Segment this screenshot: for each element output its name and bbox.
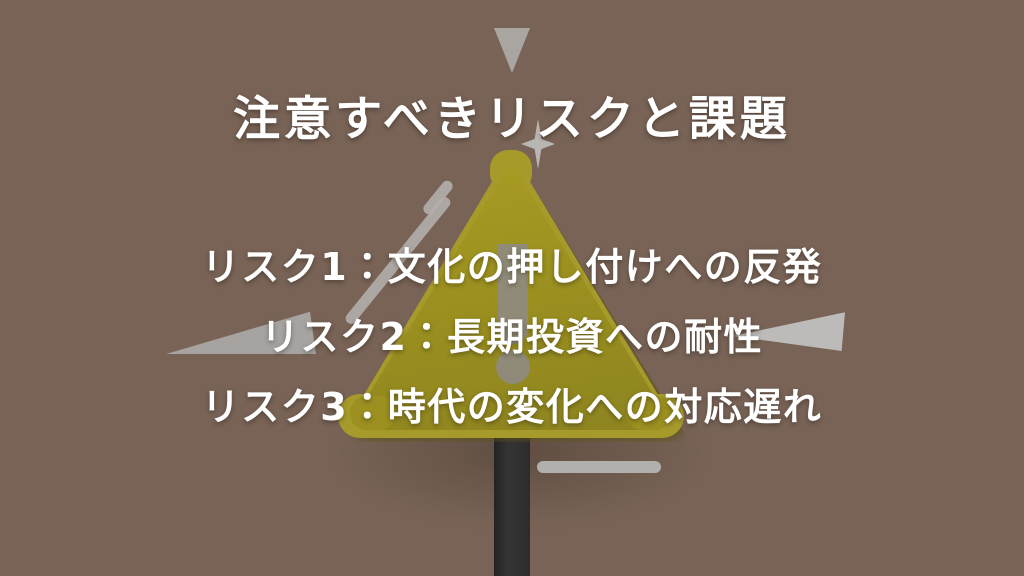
page-title: 注意すべきリスクと課題 [0, 94, 1024, 146]
list-item: リスク1：文化の押し付けへの反発 [0, 232, 1024, 302]
risk-list: リスク1：文化の押し付けへの反発 リスク2：長期投資への耐性 リスク3：時代の変… [0, 232, 1024, 442]
list-item: リスク2：長期投資への耐性 [0, 302, 1024, 372]
slide-content: 注意すべきリスクと課題 リスク1：文化の押し付けへの反発 リスク2：長期投資への… [0, 0, 1024, 576]
slide-canvas: 注意すべきリスクと課題 リスク1：文化の押し付けへの反発 リスク2：長期投資への… [0, 0, 1024, 576]
list-item: リスク3：時代の変化への対応遅れ [0, 372, 1024, 442]
